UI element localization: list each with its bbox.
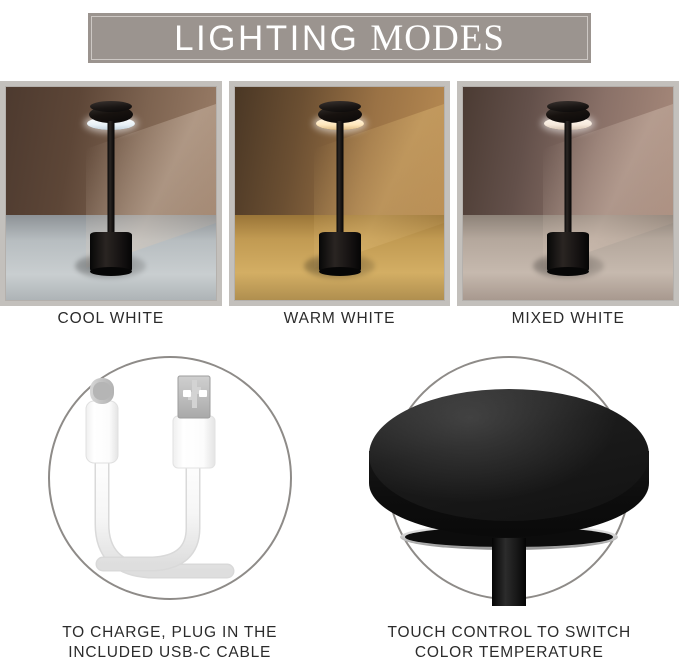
lighting-mode-panel-warm-white xyxy=(229,81,451,306)
page-title-word-lighting: LIGHTING xyxy=(174,21,359,56)
feature-cell-charging xyxy=(0,352,340,622)
lamp-base xyxy=(90,232,132,272)
feature-cell-touch-control xyxy=(340,352,679,622)
caption-charging-line-1: TO CHARGE, PLUG IN THE xyxy=(0,623,340,643)
lamp-base-top-edge xyxy=(547,101,589,112)
lamp-base-bottom-edge xyxy=(319,267,361,276)
lamp-base xyxy=(319,232,361,272)
usb-c-cable-icon xyxy=(45,356,295,606)
page-title-banner: LIGHTING MODES xyxy=(88,13,591,63)
table-lamp-cool-white xyxy=(74,106,148,281)
usb-c-cable-illustration xyxy=(45,356,295,606)
caption-charging-line-2: INCLUDED USB-C CABLE xyxy=(0,643,340,662)
caption-warm-white: WARM WHITE xyxy=(229,310,451,328)
product-infographic: LIGHTING MODES xyxy=(0,0,679,662)
caption-cool-white: COOL WHITE xyxy=(0,310,222,328)
page-title: LIGHTING MODES xyxy=(174,20,505,57)
caption-touch-control-line-1: TOUCH CONTROL TO SWITCH xyxy=(340,623,679,643)
feature-caption-row: TO CHARGE, PLUG IN THE INCLUDED USB-C CA… xyxy=(0,623,679,662)
page-title-word-modes: MODES xyxy=(370,20,505,57)
lamp-stem-closeup xyxy=(492,538,526,606)
caption-mixed-white: MIXED WHITE xyxy=(457,310,679,328)
photo-frame-cool-white xyxy=(5,86,217,301)
lighting-mode-panel-row xyxy=(0,81,679,306)
photo-frame-mixed-white xyxy=(462,86,674,301)
lamp-touch-surface xyxy=(369,389,649,521)
lamp-base xyxy=(547,232,589,272)
photo-frame-warm-white xyxy=(234,86,446,301)
lamp-base-bottom-edge xyxy=(547,267,589,276)
lamp-base-top-edge xyxy=(90,101,132,112)
lighting-mode-panel-mixed-white xyxy=(457,81,679,306)
lamp-stem xyxy=(565,121,572,236)
caption-charging: TO CHARGE, PLUG IN THE INCLUDED USB-C CA… xyxy=(0,623,340,662)
feature-row xyxy=(0,352,679,622)
lamp-base-top-edge xyxy=(319,101,361,112)
title-banner-inner-border: LIGHTING MODES xyxy=(91,16,588,60)
lighting-mode-panel-cool-white xyxy=(0,81,222,306)
table-lamp-warm-white xyxy=(303,106,377,281)
table-lamp-mixed-white xyxy=(531,106,605,281)
lamp-touch-top-icon xyxy=(359,356,659,606)
lamp-stem xyxy=(336,121,343,236)
lighting-mode-caption-row: COOL WHITE WARM WHITE MIXED WHITE xyxy=(0,310,679,328)
caption-touch-control: TOUCH CONTROL TO SWITCH COLOR TEMPERATUR… xyxy=(340,623,679,662)
lamp-stem xyxy=(107,121,114,236)
caption-touch-control-line-2: COLOR TEMPERATURE xyxy=(340,643,679,662)
lamp-base-bottom-edge xyxy=(90,267,132,276)
